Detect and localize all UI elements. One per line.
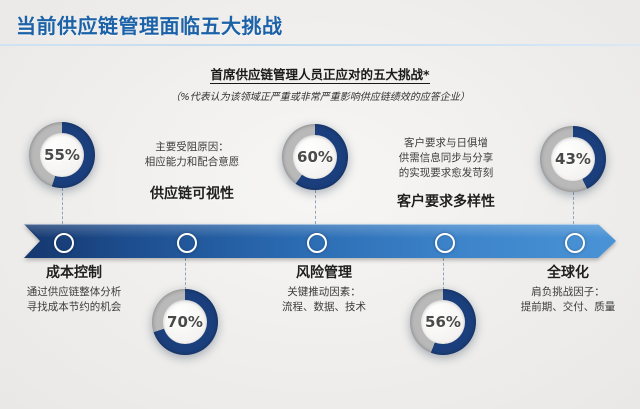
page-title: 当前供应链管理面临五大挑战 — [16, 10, 283, 39]
donut-value-3: 60% — [282, 124, 348, 190]
item-heading-4: 客户要求多样性 — [371, 191, 521, 211]
connector-5 — [573, 192, 574, 224]
item-block-visibility: 主要受阻原因： 相应能力和配合意愿 供应链可视性 — [119, 140, 265, 203]
item-heading-3: 风险管理 — [249, 262, 399, 282]
subtitle-text: 首席供应链管理人员正应对的五大挑战* — [210, 67, 429, 84]
item-desc-2-line2: 相应能力和配合意愿 — [119, 155, 265, 170]
timeline-node-3[interactable] — [307, 233, 327, 253]
item-desc-3-line2: 流程、数据、技术 — [249, 300, 399, 315]
item-desc-5-line2: 提前期、交付、质量 — [496, 300, 640, 315]
donut-chart-3[interactable]: 60% — [282, 124, 348, 190]
item-desc-4-line3: 的实现要求愈发苛刻 — [371, 166, 521, 181]
item-desc-3-line1: 关键推动因素： — [249, 285, 399, 300]
subtitle-note: （%代表认为该领域正严重或非常严重影响供应链绩效的应答企业） — [0, 88, 640, 103]
connector-4 — [443, 258, 444, 290]
item-desc-2: 主要受阻原因： 相应能力和配合意愿 — [119, 140, 265, 170]
item-desc-1-line1: 通过供应链整体分析 — [0, 285, 148, 300]
item-block-customer: 客户要求与日俱增 供需信息同步与分享 的实现要求愈发苛刻 客户要求多样性 — [371, 136, 521, 211]
item-desc-5: 肩负挑战因子： 提前期、交付、质量 — [496, 285, 640, 315]
donut-chart-5[interactable]: 43% — [540, 126, 606, 192]
donut-chart-1[interactable]: 55% — [29, 122, 95, 188]
connector-3 — [315, 190, 316, 224]
item-block-cost-control: 成本控制 通过供应链整体分析 寻找成本节约的机会 — [0, 262, 148, 315]
donut-value-4: 56% — [410, 289, 476, 355]
infographic-root: 当前供应链管理面临五大挑战 首席供应链管理人员正应对的五大挑战* （%代表认为该… — [0, 0, 640, 409]
timeline-node-4[interactable] — [435, 233, 455, 253]
item-desc-1-line2: 寻找成本节约的机会 — [0, 300, 148, 315]
timeline-node-2[interactable] — [177, 233, 197, 253]
timeline-node-1[interactable] — [54, 233, 74, 253]
item-heading-2: 供应链可视性 — [119, 183, 265, 203]
item-desc-3: 关键推动因素： 流程、数据、技术 — [249, 285, 399, 315]
item-desc-4-line1: 客户要求与日俱增 — [371, 136, 521, 151]
connector-1 — [62, 188, 63, 224]
timeline-arrow-band — [24, 224, 616, 258]
donut-chart-2[interactable]: 70% — [152, 289, 218, 355]
connector-2 — [185, 258, 186, 290]
donut-chart-4[interactable]: 56% — [410, 289, 476, 355]
item-block-globalization: 全球化 肩负挑战因子： 提前期、交付、质量 — [496, 262, 640, 315]
item-desc-4: 客户要求与日俱增 供需信息同步与分享 的实现要求愈发苛刻 — [371, 136, 521, 182]
item-heading-5: 全球化 — [496, 262, 640, 282]
donut-value-1: 55% — [29, 122, 95, 188]
timeline-node-5[interactable] — [565, 233, 585, 253]
item-desc-5-line1: 肩负挑战因子： — [496, 285, 640, 300]
item-desc-1: 通过供应链整体分析 寻找成本节约的机会 — [0, 285, 148, 315]
donut-value-5: 43% — [540, 126, 606, 192]
donut-value-2: 70% — [152, 289, 218, 355]
title-divider — [0, 44, 640, 46]
subtitle: 首席供应链管理人员正应对的五大挑战* — [0, 64, 640, 83]
item-heading-1: 成本控制 — [0, 262, 148, 282]
item-desc-4-line2: 供需信息同步与分享 — [371, 151, 521, 166]
item-desc-2-line1: 主要受阻原因： — [119, 140, 265, 155]
item-block-risk: 风险管理 关键推动因素： 流程、数据、技术 — [249, 262, 399, 315]
